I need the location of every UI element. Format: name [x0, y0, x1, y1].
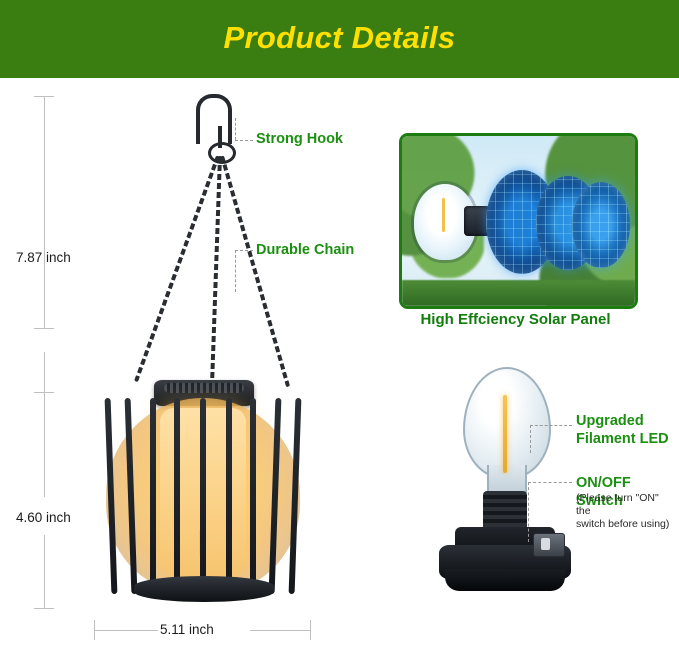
- ruler-tick: [34, 328, 54, 329]
- callout-filament-led: Upgraded Filament LED: [576, 412, 669, 448]
- onoff-switch-knob[interactable]: [541, 538, 550, 550]
- cage-rib: [174, 398, 180, 594]
- bulb-socket-bottom: [445, 569, 565, 591]
- bulb-filament: [503, 395, 507, 473]
- leader-onoff-switch: [528, 482, 572, 483]
- cage-rib: [150, 398, 156, 594]
- dimension-width: 5.11 inch: [160, 622, 214, 637]
- exploded-bulb-filament: [442, 198, 445, 232]
- callout-durable-chain: Durable Chain: [256, 241, 354, 259]
- callout-filament-led-line2: Filament LED: [576, 431, 669, 447]
- leader-onoff-switch-vertical: [528, 482, 529, 542]
- chain-left: [134, 155, 220, 382]
- exploded-disc-solar: [572, 182, 630, 268]
- width-ruler: [94, 630, 158, 631]
- cage-rib: [200, 398, 206, 594]
- ruler-tick: [34, 96, 54, 97]
- chain-right: [220, 155, 290, 387]
- header-banner: Product Details: [0, 0, 679, 78]
- lantern-product-image: [88, 92, 318, 612]
- height-ruler-total: [44, 96, 45, 328]
- leader-chain: [235, 250, 253, 251]
- chain-center: [210, 156, 222, 396]
- bulb-neck: [487, 465, 527, 493]
- callout-onoff-switch-note: (Please turn "ON" the switch before usin…: [576, 492, 676, 531]
- photo-grass: [402, 280, 635, 306]
- dimension-height-total: 7.87 inch: [16, 250, 71, 265]
- ruler-tick: [34, 608, 54, 609]
- circuit-pattern: [572, 182, 630, 268]
- solar-panel-photo: [399, 133, 638, 309]
- hook-icon: [196, 94, 232, 144]
- page-title: Product Details: [0, 20, 679, 56]
- leader-chain-vertical: [235, 250, 236, 292]
- leader-filament-led: [530, 425, 572, 426]
- lantern-base: [134, 576, 274, 602]
- callout-filament-led-line1: Upgraded: [576, 413, 644, 429]
- leader-filament-led-vertical: [530, 425, 531, 453]
- leader-hook-vertical: [235, 118, 236, 140]
- switch-note-line2: switch before using): [576, 518, 669, 530]
- cage-rib: [250, 398, 256, 594]
- bulb-screw-base: [483, 491, 527, 531]
- height-ruler-lantern-lower: [44, 535, 45, 608]
- height-ruler-lantern: [44, 392, 45, 492]
- cage-rib: [226, 398, 232, 594]
- ruler-tick: [34, 392, 54, 393]
- callout-strong-hook: Strong Hook: [256, 130, 343, 148]
- ruler-tick-vertical: [310, 620, 311, 640]
- width-ruler-right: [250, 630, 310, 631]
- product-details-page: Product Details 7.87 inch 4.: [0, 0, 679, 645]
- solar-panel-strip: [164, 383, 244, 393]
- solar-panel-caption: High Effciency Solar Panel: [399, 311, 632, 328]
- leader-hook: [235, 140, 253, 141]
- bulb-product-image: [415, 355, 600, 615]
- dimension-height-lantern: 4.60 inch: [16, 510, 71, 525]
- ruler-tick-vertical: [94, 620, 95, 640]
- bulb-glass: [463, 367, 551, 479]
- switch-note-line1: (Please turn "ON" the: [576, 492, 659, 517]
